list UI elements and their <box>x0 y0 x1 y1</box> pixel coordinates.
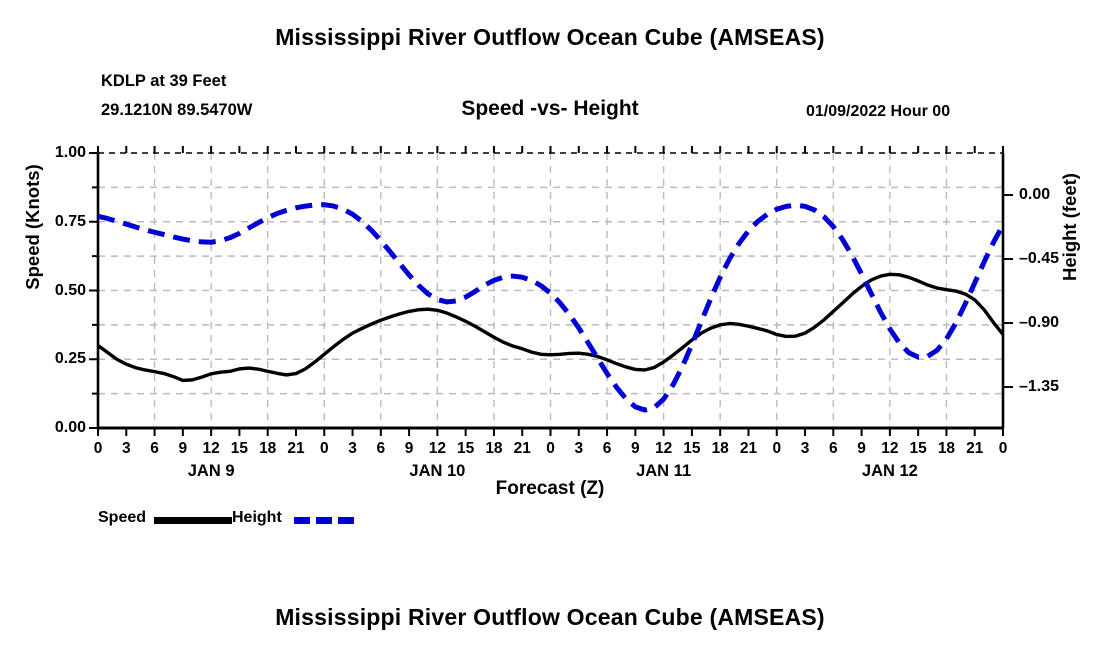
x-axis-tick-label: 0 <box>764 440 790 458</box>
x-axis-tick-label: 3 <box>566 440 592 458</box>
x-axis-tick-label: 0 <box>311 440 337 458</box>
x-axis-tick-label: 12 <box>424 440 450 458</box>
x-axis-tick-label: 6 <box>142 440 168 458</box>
x-axis-tick-label: 18 <box>707 440 733 458</box>
x-axis-day-label: JAN 9 <box>151 462 271 481</box>
x-axis-tick-label: 9 <box>170 440 196 458</box>
y-axis-right-tick-label: –1.35 <box>1019 378 1089 396</box>
x-axis-tick-label: 6 <box>594 440 620 458</box>
x-axis-tick-label: 12 <box>651 440 677 458</box>
x-axis-tick-label: 3 <box>113 440 139 458</box>
x-axis-tick-label: 21 <box>735 440 761 458</box>
x-axis-tick-label: 6 <box>820 440 846 458</box>
y-axis-right-tick-label: –0.45 <box>1019 250 1089 268</box>
x-axis-tick-label: 3 <box>340 440 366 458</box>
chart-title-bottom: Mississippi River Outflow Ocean Cube (AM… <box>0 604 1100 631</box>
x-axis-tick-label: 21 <box>962 440 988 458</box>
legend-swatch-height <box>294 517 360 524</box>
legend-label-speed: Speed <box>98 509 146 527</box>
x-axis-tick-label: 15 <box>679 440 705 458</box>
chart-figure: Mississippi River Outflow Ocean Cube (AM… <box>0 0 1100 650</box>
y-axis-left-tick-label: 0.75 <box>26 213 86 231</box>
x-axis-tick-label: 18 <box>481 440 507 458</box>
x-axis-tick-label: 12 <box>198 440 224 458</box>
x-axis-tick-label: 18 <box>255 440 281 458</box>
x-axis-tick-label: 6 <box>368 440 394 458</box>
y-axis-left-tick-label: 0.25 <box>26 350 86 368</box>
x-axis-tick-label: 21 <box>509 440 535 458</box>
legend-swatch-speed <box>154 517 232 524</box>
x-axis-tick-label: 15 <box>453 440 479 458</box>
x-axis-tick-label: 15 <box>905 440 931 458</box>
x-axis-tick-label: 12 <box>877 440 903 458</box>
x-axis-day-label: JAN 12 <box>830 462 950 481</box>
y-axis-right-tick-label: –0.90 <box>1019 314 1089 332</box>
y-axis-right-tick-label: 0.00 <box>1019 186 1089 204</box>
y-axis-left-tick-label: 0.50 <box>26 282 86 300</box>
x-axis-tick-label: 0 <box>990 440 1016 458</box>
x-axis-tick-label: 9 <box>849 440 875 458</box>
x-axis-tick-label: 0 <box>85 440 111 458</box>
x-axis-tick-label: 0 <box>538 440 564 458</box>
x-axis-tick-label: 21 <box>283 440 309 458</box>
x-axis-tick-label: 15 <box>226 440 252 458</box>
x-axis-tick-label: 9 <box>396 440 422 458</box>
x-axis-tick-label: 9 <box>622 440 648 458</box>
x-axis-tick-label: 18 <box>933 440 959 458</box>
legend-label-height: Height <box>232 509 282 527</box>
x-axis-tick-label: 3 <box>792 440 818 458</box>
y-axis-left-tick-label: 0.00 <box>26 419 86 437</box>
x-axis-day-label: JAN 10 <box>377 462 497 481</box>
plot-canvas <box>0 0 1100 650</box>
y-axis-left-tick-label: 1.00 <box>26 144 86 162</box>
x-axis-day-label: JAN 11 <box>604 462 724 481</box>
